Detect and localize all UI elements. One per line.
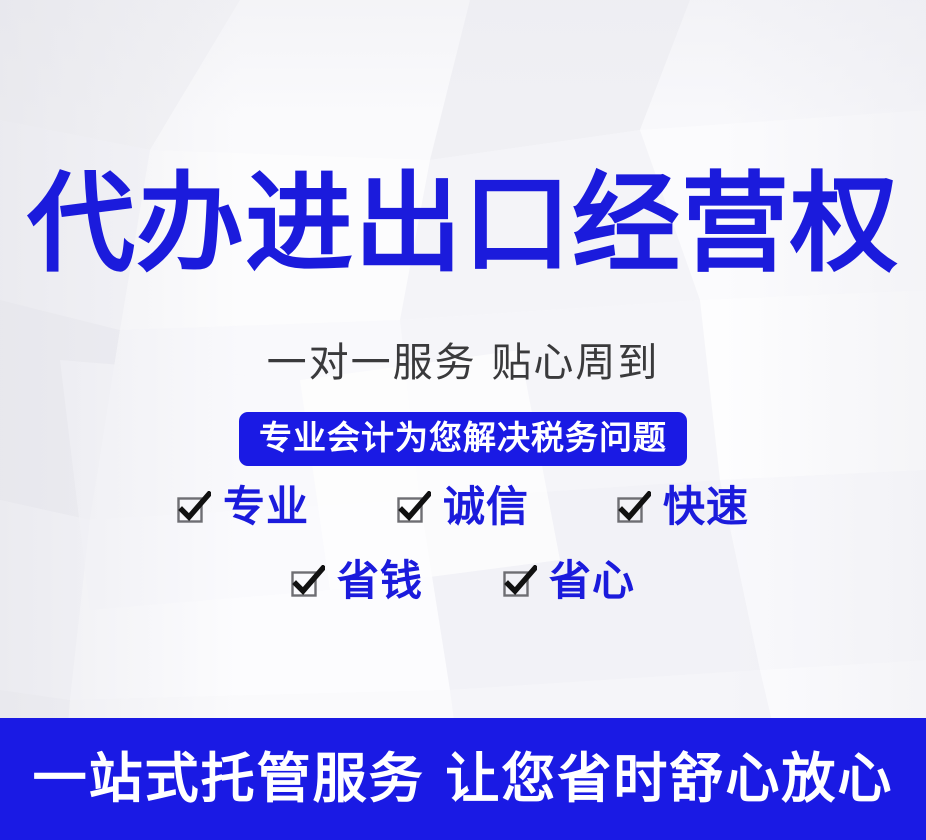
checkbox-checked-icon (291, 565, 325, 599)
feature-row: 省钱 省心 (0, 560, 926, 602)
feature-item: 诚信 (397, 486, 529, 528)
feature-row: 专业 诚信 快速 (0, 486, 926, 528)
feature-label: 省心 (549, 560, 635, 602)
page-title: 代办进出口经营权 (0, 168, 926, 282)
checkbox-checked-icon (397, 491, 431, 525)
promo-poster: 代办进出口经营权 一对一服务 贴心周到 专业会计为您解决税务问题 专业 (0, 0, 926, 840)
feature-label: 快速 (663, 486, 749, 528)
feature-list: 专业 诚信 快速 (0, 486, 926, 602)
highlight-banner-wrap: 专业会计为您解决税务问题 (0, 412, 926, 466)
feature-item: 省心 (503, 560, 635, 602)
checkbox-checked-icon (177, 491, 211, 525)
highlight-banner: 专业会计为您解决税务问题 (239, 412, 687, 466)
feature-item: 专业 (177, 486, 309, 528)
feature-label: 省钱 (337, 560, 423, 602)
footer-banner: 一站式托管服务 让您省时舒心放心 (0, 718, 926, 840)
feature-label: 专业 (223, 486, 309, 528)
feature-label: 诚信 (443, 486, 529, 528)
footer-banner-text: 一站式托管服务 让您省时舒心放心 (33, 752, 894, 806)
checkbox-checked-icon (503, 565, 537, 599)
feature-item: 省钱 (291, 560, 423, 602)
subheading: 一对一服务 贴心周到 (0, 340, 926, 386)
feature-item: 快速 (617, 486, 749, 528)
checkbox-checked-icon (617, 491, 651, 525)
